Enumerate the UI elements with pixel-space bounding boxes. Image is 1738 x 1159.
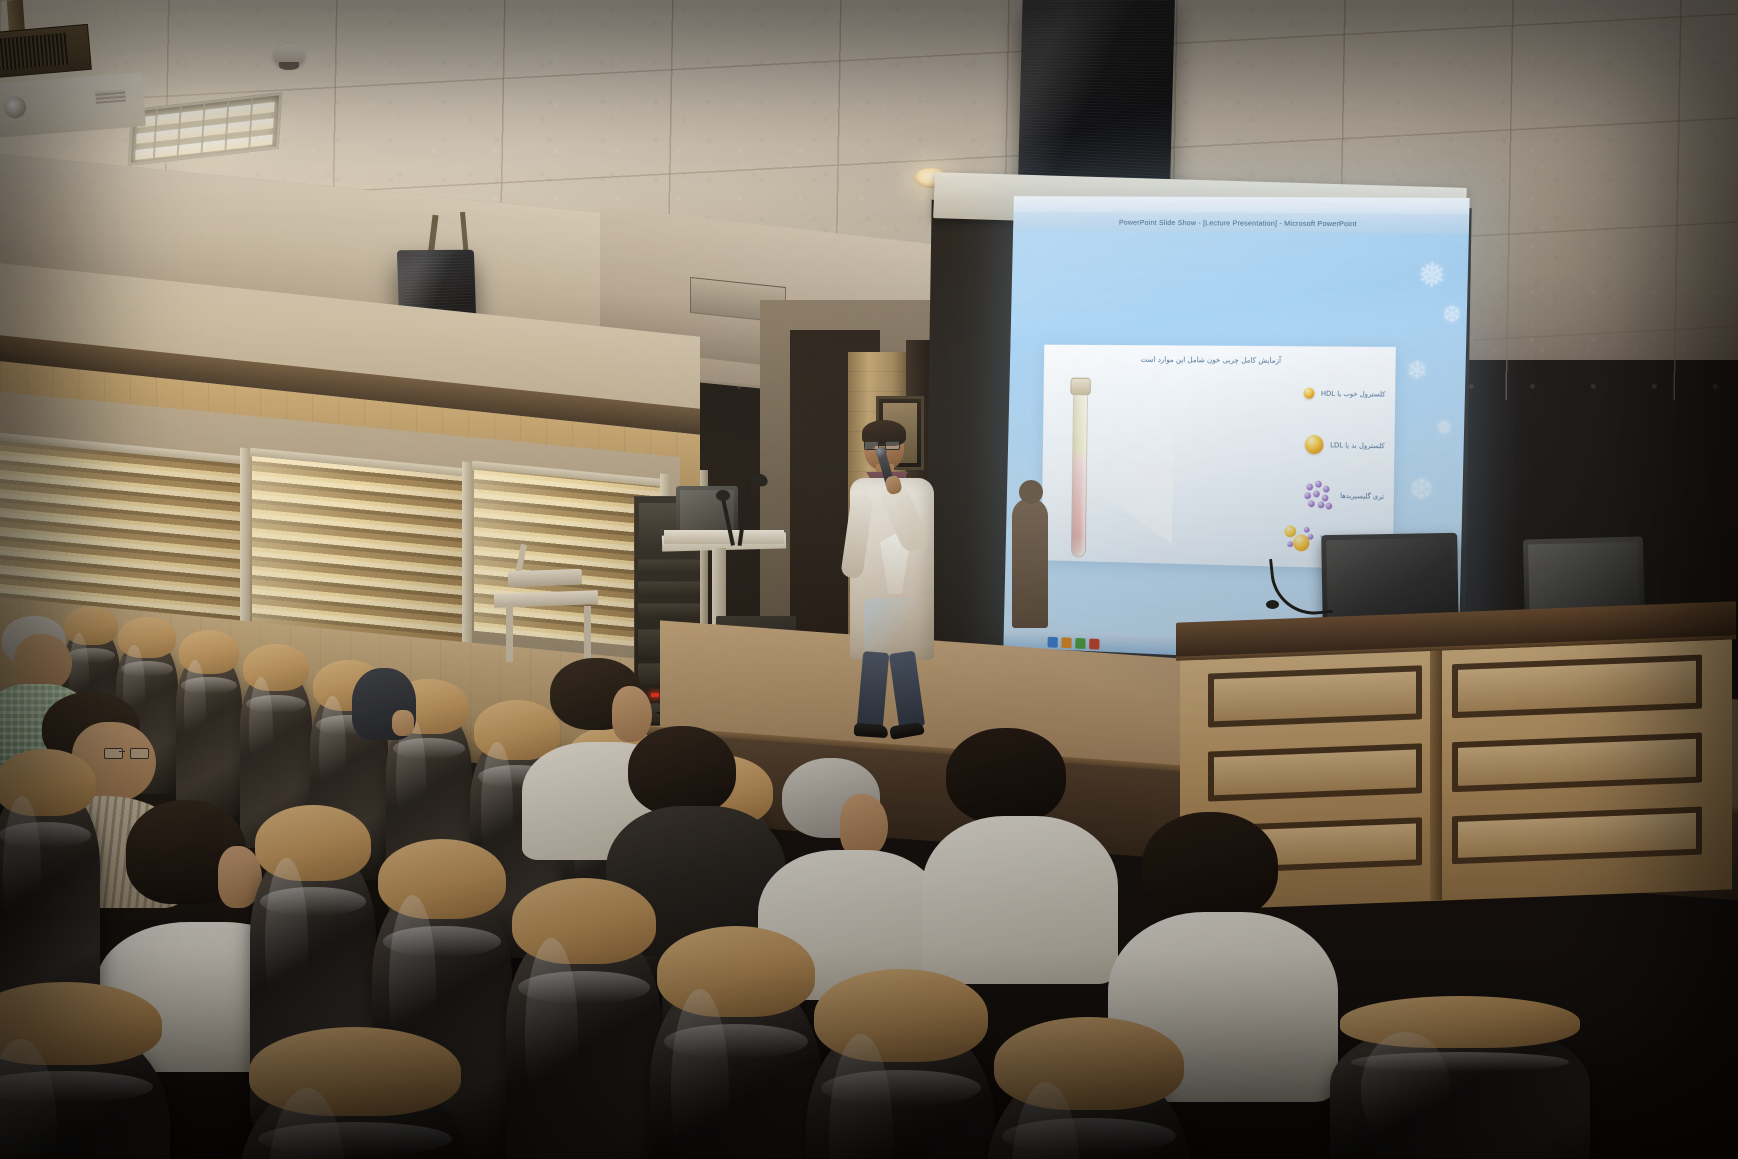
lectern-panel bbox=[1208, 743, 1422, 801]
seat[interactable] bbox=[650, 968, 822, 1159]
projector-lens-icon bbox=[3, 95, 27, 119]
mixed-cluster-icon bbox=[1284, 525, 1313, 551]
gold-sphere-icon bbox=[1305, 435, 1324, 454]
legend-label-hdl: کلسترول خوب یا HDL bbox=[1321, 389, 1386, 398]
attendee-4 bbox=[348, 668, 428, 748]
rack-unit[interactable] bbox=[638, 581, 702, 597]
legend-row-hdl: کلسترول خوب یا HDL bbox=[1304, 388, 1386, 400]
gold-sphere-icon bbox=[1304, 388, 1315, 399]
legend-label-ldl: کلسترول بد یا LDL bbox=[1330, 441, 1385, 450]
eyeglasses-icon bbox=[104, 748, 150, 757]
test-tube-illustration bbox=[1067, 378, 1092, 558]
rack-amplifier[interactable] bbox=[638, 559, 702, 575]
lecture-hall-photo: PowerPoint Slide Show - [Lecture Present… bbox=[0, 0, 1738, 1159]
lectern-divider bbox=[1430, 650, 1442, 900]
lectern-panel bbox=[1452, 733, 1702, 793]
slide-title: آزمایش کامل چربی خون شامل این موارد است bbox=[1044, 354, 1382, 365]
ceiling-projector bbox=[0, 24, 92, 78]
attendee-8 bbox=[928, 728, 1098, 978]
seat[interactable] bbox=[0, 1020, 170, 1159]
smoke-detector bbox=[274, 44, 304, 66]
snowflake-icon: ❆ bbox=[1409, 472, 1433, 506]
seat[interactable] bbox=[1330, 1020, 1590, 1159]
audience-seating bbox=[0, 600, 1100, 1159]
purple-cluster-icon bbox=[1304, 480, 1333, 510]
seat[interactable] bbox=[986, 1060, 1192, 1159]
microphone-head bbox=[716, 490, 730, 501]
snowflake-icon: ❅ bbox=[1417, 256, 1446, 296]
seat[interactable] bbox=[240, 1068, 470, 1159]
lectern-panel bbox=[1452, 655, 1702, 719]
lectern-panel bbox=[1208, 665, 1422, 727]
seat[interactable] bbox=[806, 1012, 996, 1159]
legend-label-triglycerides: تری گلیسیریدها bbox=[1340, 492, 1384, 501]
legend-row-ldl: کلسترول بد یا LDL bbox=[1305, 435, 1385, 455]
snowflake-icon: ❅ bbox=[1435, 415, 1452, 440]
seat[interactable] bbox=[506, 918, 662, 1159]
snowflake-icon: ❆ bbox=[1442, 302, 1461, 328]
document-camera[interactable] bbox=[508, 569, 583, 588]
lectern-panel bbox=[1452, 807, 1702, 865]
operator-desk-top bbox=[664, 530, 784, 544]
snowflake-icon: ❄ bbox=[1406, 355, 1428, 386]
powerpoint-titlebar: PowerPoint Slide Show - [Lecture Present… bbox=[1013, 211, 1469, 233]
callout-fan bbox=[1086, 428, 1174, 544]
legend-row-triglycerides: تری گلیسیریدها bbox=[1304, 480, 1384, 511]
